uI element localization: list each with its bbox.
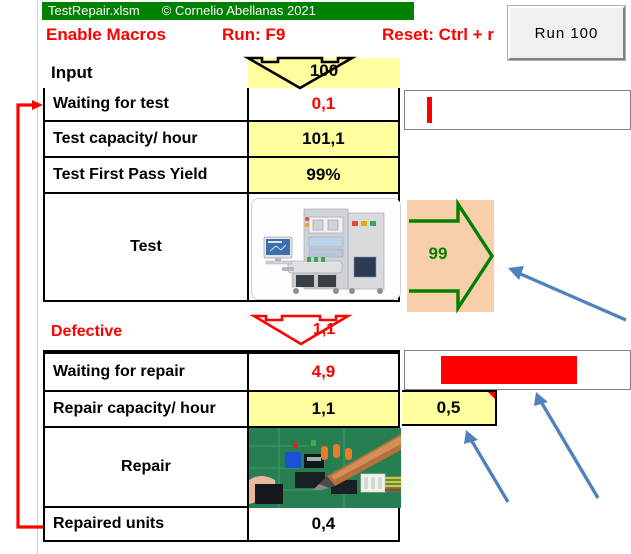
process-label: Test [45, 194, 247, 300]
process-label: Repair [45, 428, 247, 506]
repaired-units-feedback-loop [18, 100, 43, 527]
waiting-for-repair-bar-chart [404, 350, 631, 390]
waiting-for-test-bar-chart [404, 90, 631, 130]
pcb-repair-photo [249, 428, 401, 508]
enable-macros-label: Enable Macros [46, 24, 166, 46]
test-table: Waiting for test 0,1 Test capacity/ hour… [43, 88, 400, 302]
cell-comment-indicator[interactable] [488, 392, 495, 399]
row-label: Test First Pass Yield [45, 158, 247, 192]
defective-row: Defective 1,1 [43, 318, 400, 346]
blue-annotation-arrow-to-capacity [464, 430, 508, 502]
row-value: 0,4 [247, 508, 398, 540]
workbook-filename: TestRepair.xlsm [48, 3, 140, 18]
repair-table: Waiting for repair 4,9 Repair capacity/ … [43, 350, 400, 542]
row-value: 0,1 [247, 88, 398, 120]
table-row-waiting-for-test[interactable]: Waiting for test 0,1 [43, 88, 400, 122]
test-machine-photo [251, 198, 401, 300]
table-row-test-capacity[interactable]: Test capacity/ hour 101,1 [43, 122, 400, 158]
waiting-for-test-bar [427, 97, 432, 123]
test-output-value: 99 [407, 243, 469, 265]
reset-shortcut-label: Reset: Ctrl + r [382, 24, 494, 46]
table-row-test-process: Test [43, 194, 400, 302]
spreadsheet-canvas: TestRepair.xlsm© Cornelio Abellanas 2021… [0, 0, 631, 554]
blue-annotation-arrow-to-bar [534, 392, 598, 498]
row-value: 4,9 [247, 354, 398, 390]
input-row: Input 100 [43, 58, 400, 88]
process-image-cell [247, 428, 398, 506]
row-label: Waiting for test [45, 88, 247, 120]
table-row-first-pass-yield[interactable]: Test First Pass Yield 99% [43, 158, 400, 194]
row-value[interactable]: 101,1 [247, 122, 398, 156]
input-label: Input [51, 58, 93, 88]
sheet-column-edge [37, 0, 38, 554]
input-value[interactable]: 100 [248, 58, 400, 84]
row-value[interactable]: 1,1 [247, 392, 398, 426]
workbook-title-bar: TestRepair.xlsm© Cornelio Abellanas 2021 [42, 2, 414, 20]
copyright-notice: © Cornelio Abellanas 2021 [162, 3, 316, 18]
run-100-button[interactable]: Run 100 [508, 6, 625, 60]
defective-value: 1,1 [248, 318, 400, 342]
repair-capacity-secondary-cell[interactable]: 0,5 [402, 390, 497, 426]
table-row-repaired-units[interactable]: Repaired units 0,4 [43, 508, 400, 542]
waiting-for-repair-bar [441, 356, 577, 384]
table-row-waiting-for-repair[interactable]: Waiting for repair 4,9 [43, 352, 400, 392]
row-label: Repair capacity/ hour [45, 392, 247, 426]
repair-capacity-secondary-value: 0,5 [437, 398, 461, 418]
table-row-repair-capacity[interactable]: Repair capacity/ hour 1,1 [43, 392, 400, 428]
table-row-repair-process: Repair [43, 428, 400, 508]
run-shortcut-label: Run: F9 [222, 24, 285, 46]
row-label: Waiting for repair [45, 354, 247, 390]
row-label: Test capacity/ hour [45, 122, 247, 156]
row-label: Repaired units [45, 508, 247, 540]
process-image-cell [247, 194, 398, 300]
blue-annotation-arrow-to-output [508, 266, 626, 320]
row-value[interactable]: 99% [247, 158, 398, 192]
defective-label: Defective [51, 318, 122, 346]
